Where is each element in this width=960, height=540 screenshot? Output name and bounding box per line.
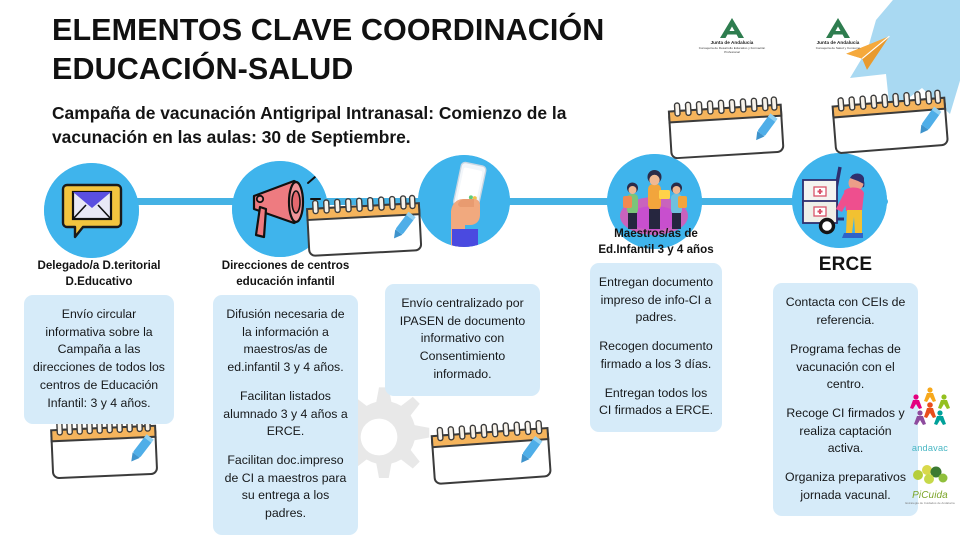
step-role-label: ERCE	[773, 252, 918, 277]
notepad-illustration	[425, 415, 560, 489]
step-card: Envío circular informativa sobre la Camp…	[24, 295, 174, 424]
step-column-delegado: Delegado/a D.teritorial D.Educativo Enví…	[24, 258, 174, 424]
partner-logos-group: andavac PiCuida Estrategia de Cuidados d…	[905, 386, 955, 512]
junta-andalucia-mark-icon	[825, 17, 851, 39]
step-column-direcciones: Direcciones de centros educación infanti…	[213, 258, 358, 535]
junta-logos-group: Junta de Andalucía Consejería de Desarro…	[695, 17, 875, 54]
step-column-erce: ERCE Contacta con CEIs de referencia. Pr…	[773, 252, 918, 516]
page-subtitle: Campaña de vacunación Antigripal Intrana…	[52, 101, 632, 149]
step-paragraph: Contacta con CEIs de referencia.	[781, 294, 910, 329]
picuida-tagline: Estrategia de Cuidados de Andalucía	[905, 501, 955, 505]
envelope-speech-bubble-icon	[44, 163, 139, 258]
step-icon-erce[interactable]	[792, 153, 887, 248]
step-icon-delegado[interactable]	[44, 163, 139, 258]
step-paragraph: Recogen documento firmado a los 3 días.	[598, 338, 714, 373]
junta-andalucia-mark-icon	[719, 17, 745, 39]
step-paragraph: Organiza preparativos jornada vacunal.	[781, 469, 910, 504]
picuida-logo: PiCuida Estrategia de Cuidados de Andalu…	[905, 463, 955, 505]
junta-logo-educacion: Junta de Andalucía Consejería de Desarro…	[695, 17, 769, 54]
step-card: Difusión necesaria de la información a m…	[213, 295, 358, 535]
megaphone-icon	[232, 161, 328, 257]
notepad-illustration	[662, 92, 792, 164]
junta-logo-name: Junta de Andalucía	[801, 40, 875, 46]
step-paragraph: Facilitan doc.impreso de CI a maestros p…	[221, 452, 350, 523]
page-title: ELEMENTOS CLAVE COORDINACIÓN EDUCACIÓN-S…	[52, 11, 682, 88]
junta-logo-name: Junta de Andalucía	[695, 40, 769, 46]
step-paragraph: Programa fechas de vacunación con el cen…	[781, 341, 910, 394]
notepad-illustration	[826, 86, 956, 158]
step-paragraph: Envío circular informativa sobre la Camp…	[32, 306, 166, 412]
picuida-mark-icon	[910, 463, 950, 485]
step-role-label: Delegado/a D.teritorial D.Educativo	[24, 258, 174, 289]
andavac-label: andavac	[912, 443, 948, 453]
step-card: Entregan documento impreso de info-CI a …	[590, 263, 722, 432]
step-paragraph: Facilitan listados alumnado 3 y 4 años a…	[221, 388, 350, 441]
step-paragraph: Entregan documento impreso de info-CI a …	[598, 274, 714, 327]
junta-logo-salud: Junta de Andalucía Consejería de Salud y…	[801, 17, 875, 54]
step-column-maestros: Maestros/as de Ed.Infantil 3 y 4 años En…	[590, 226, 722, 432]
step-paragraph: Difusión necesaria de la información a m…	[221, 306, 350, 377]
step-icon-direcciones[interactable]	[232, 161, 328, 257]
hand-smartphone-icon	[418, 155, 510, 247]
step-card: Contacta con CEIs de referencia. Program…	[773, 283, 918, 516]
step-icon-ipasen[interactable]	[418, 155, 510, 247]
step-card: Envío centralizado por IPASEN de documen…	[385, 284, 540, 396]
infographic-canvas: ELEMENTOS CLAVE COORDINACIÓN EDUCACIÓN-S…	[0, 0, 960, 540]
junta-logo-dept: Consejería de Desarrollo Educativo y For…	[695, 46, 769, 54]
people-circle-logo	[905, 386, 955, 431]
delivery-boxes-icon	[792, 153, 887, 248]
step-column-ipasen: Envío centralizado por IPASEN de documen…	[385, 284, 540, 396]
step-paragraph: Envío centralizado por IPASEN de documen…	[393, 295, 532, 384]
step-paragraph: Entregan todos los CI firmados a ERCE.	[598, 385, 714, 420]
people-circle-icon	[909, 386, 951, 426]
step-role-label: Maestros/as de Ed.Infantil 3 y 4 años	[590, 226, 722, 257]
step-role-label: Direcciones de centros educación infanti…	[213, 258, 358, 289]
andavac-logo: andavac	[905, 438, 955, 456]
step-paragraph: Recoge CI firmados y realiza captación a…	[781, 405, 910, 458]
junta-logo-dept: Consejería de Salud y Consumo	[801, 46, 875, 50]
picuida-label: PiCuida	[905, 490, 955, 501]
